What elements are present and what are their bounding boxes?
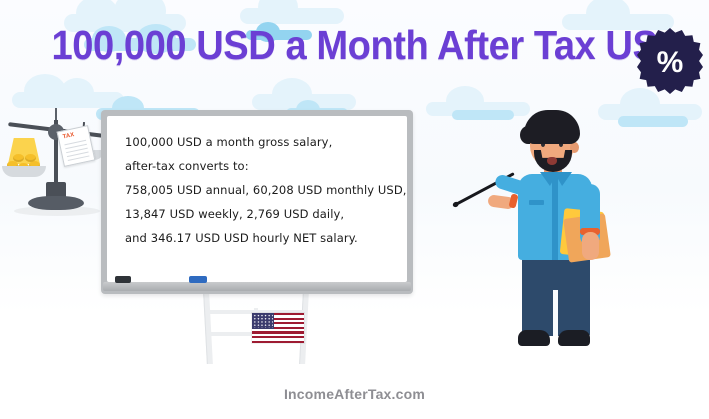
page-title: 100,000 USD a Month After Tax US <box>25 22 684 68</box>
scale-pan-left <box>2 166 46 177</box>
teacher-hair <box>524 110 580 144</box>
stand-leg-left <box>203 292 213 364</box>
site-watermark: IncomeAfterTax.com <box>0 386 709 402</box>
blue-marker-icon <box>189 276 207 283</box>
eraser-icon <box>115 276 131 283</box>
flag-canton <box>252 313 274 329</box>
coin-stack-icon <box>7 141 43 169</box>
teacher-shirt-placket <box>552 174 558 260</box>
flag-stars <box>253 314 273 328</box>
teacher-shirt-pocket <box>529 200 544 205</box>
whiteboard: 100,000 USD a month gross salary, after-… <box>101 110 413 294</box>
tax-label: TAX <box>62 132 75 140</box>
whiteboard-text: 100,000 USD a month gross salary, after-… <box>125 130 401 250</box>
percent-symbol: % <box>637 28 703 94</box>
percent-badge-icon: % <box>637 28 703 94</box>
board-line: 758,005 USD annual, 60,208 USD monthly U… <box>125 178 401 202</box>
teacher-character <box>488 104 644 360</box>
board-line: after-tax converts to: <box>125 154 401 178</box>
teacher-mouth <box>547 157 557 165</box>
teacher-forearm-right <box>582 232 599 260</box>
cloud-decoration <box>250 78 360 112</box>
us-flag-icon <box>252 313 304 343</box>
scale-base <box>28 196 84 210</box>
whiteboard-surface: 100,000 USD a month gross salary, after-… <box>107 116 407 282</box>
balance-scale-icon: TAX <box>2 104 114 228</box>
board-line: and 346.17 USD USD hourly NET salary. <box>125 226 401 250</box>
marker-tray <box>103 282 411 291</box>
board-line: 100,000 USD a month gross salary, <box>125 130 401 154</box>
board-line: 13,847 USD weekly, 2,769 USD daily, <box>125 202 401 226</box>
infographic-canvas: 100,000 USD a Month After Tax US % TAX <box>0 0 709 419</box>
teacher-shoe-left <box>518 330 550 346</box>
teacher-leg-gap <box>553 290 558 336</box>
teacher-shoe-right <box>558 330 590 346</box>
